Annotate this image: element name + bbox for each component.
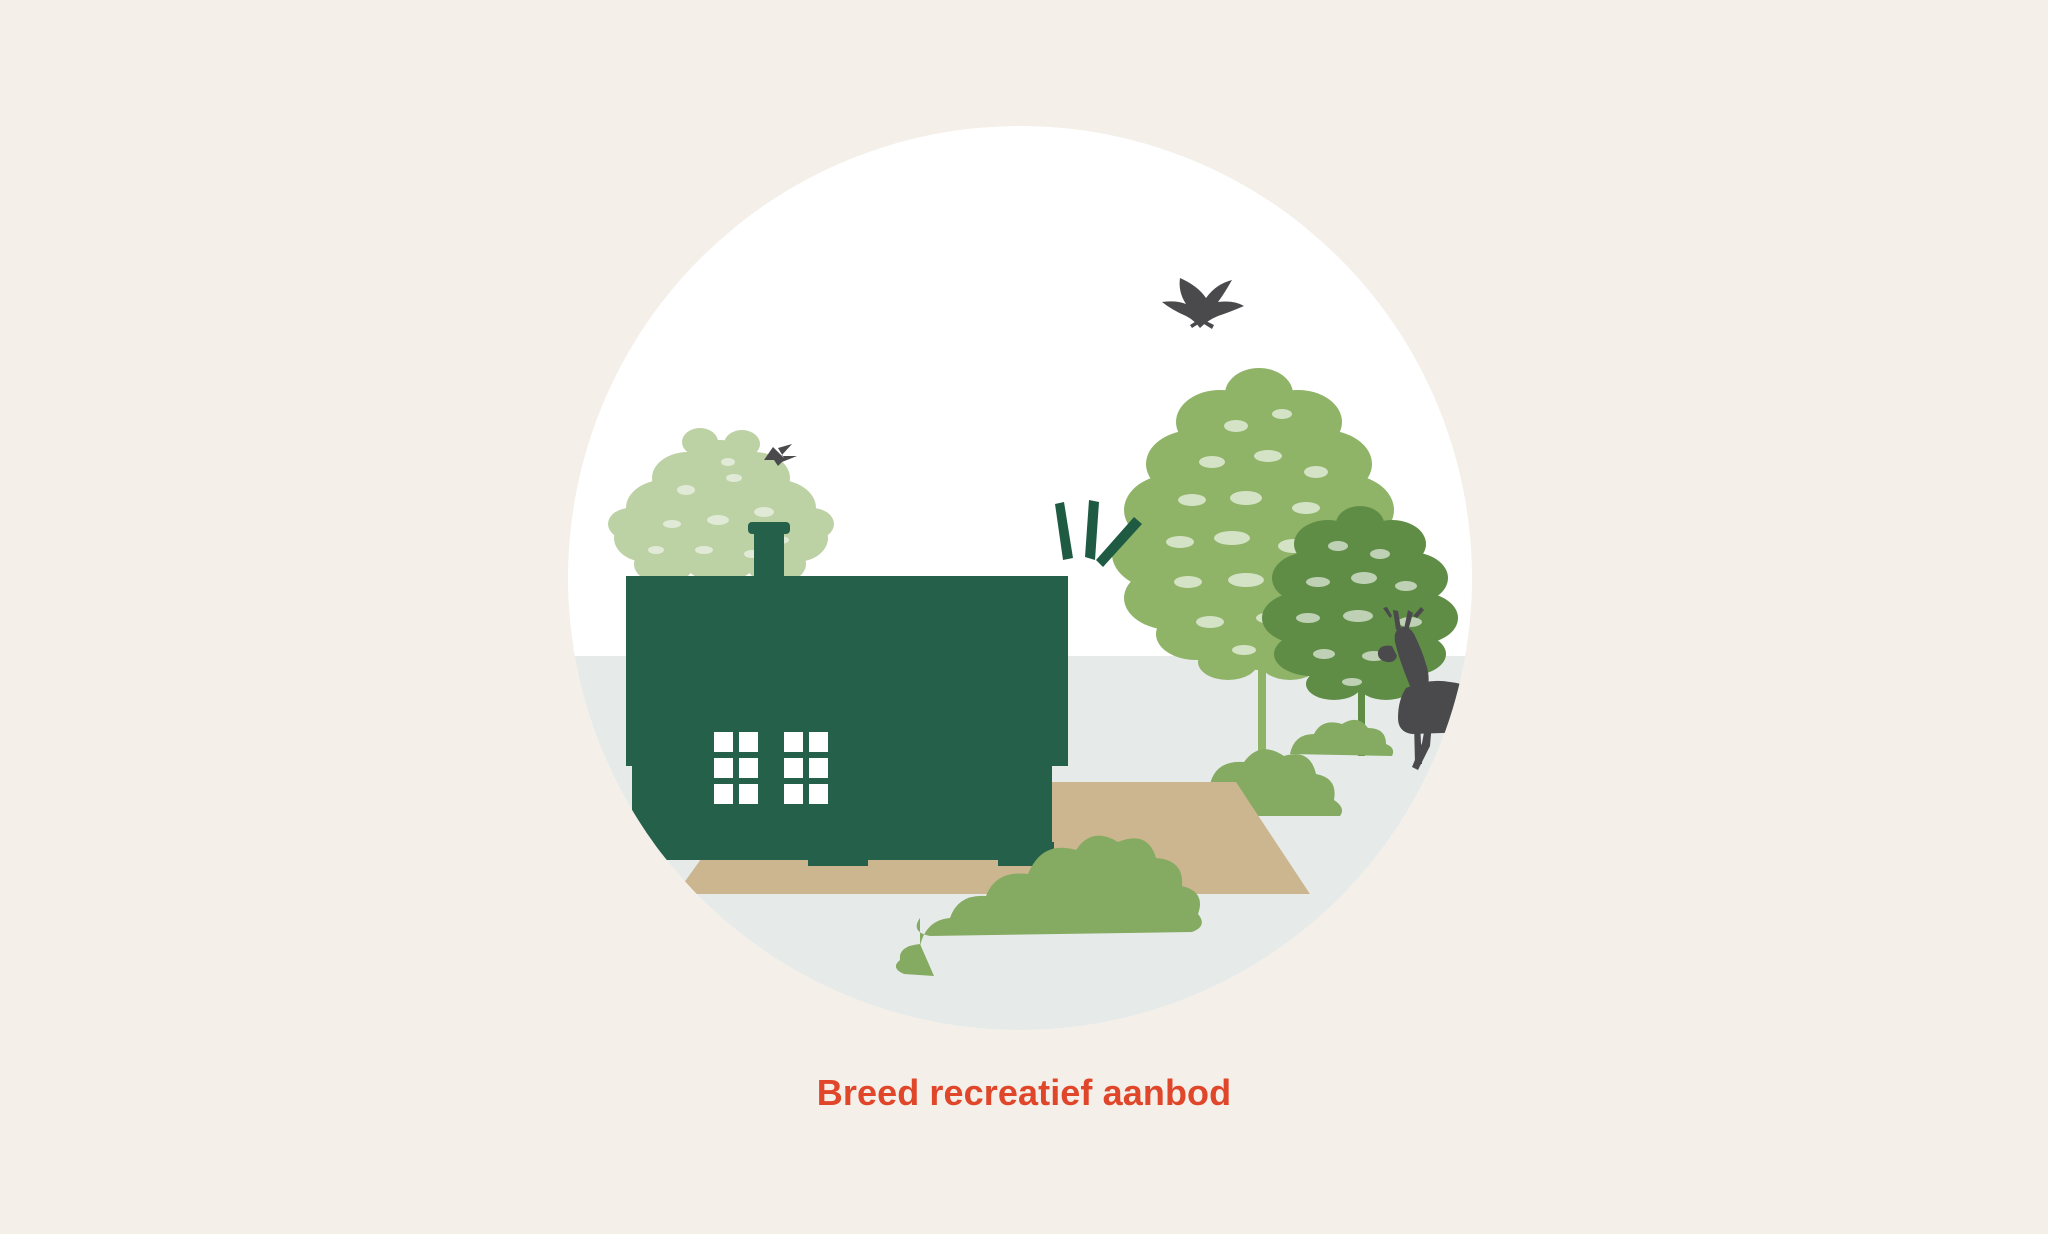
cabin-side (632, 714, 648, 854)
page-title: Breed recreatief aanbod (0, 1072, 2048, 1114)
illustration-container (568, 126, 1472, 1030)
cabin-foot-mid (808, 854, 868, 866)
cabin-chimney (754, 528, 784, 584)
cabin-foot-left (638, 854, 660, 866)
forest-cabin-illustration (568, 126, 1472, 1030)
page-root: Breed recreatief aanbod (0, 0, 2048, 1234)
cabin-wall (646, 686, 1052, 854)
cabin-chimney-cap (748, 522, 790, 534)
